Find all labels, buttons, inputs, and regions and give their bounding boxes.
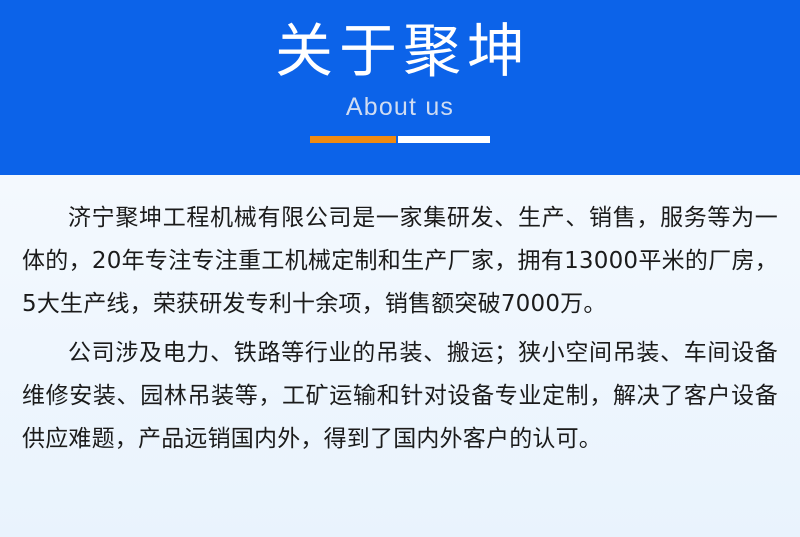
about-us-page: 关于聚坤 About us 济宁聚坤工程机械有限公司是一家集研发、生产、销售，服… (0, 0, 800, 537)
header-divider (310, 136, 490, 143)
about-paragraph-1: 济宁聚坤工程机械有限公司是一家集研发、生产、销售，服务等为一体的，20年专注专注… (22, 197, 778, 326)
header-banner: 关于聚坤 About us (0, 0, 800, 175)
divider-segment-white (398, 136, 490, 143)
about-us-body: 济宁聚坤工程机械有限公司是一家集研发、生产、销售，服务等为一体的，20年专注专注… (0, 175, 800, 461)
page-title: 关于聚坤 (269, 0, 531, 86)
divider-segment-orange (310, 136, 396, 143)
about-paragraph-2: 公司涉及电力、铁路等行业的吊装、搬运；狭小空间吊装、车间设备维修安装、园林吊装等… (22, 332, 778, 461)
page-subtitle: About us (346, 86, 454, 122)
